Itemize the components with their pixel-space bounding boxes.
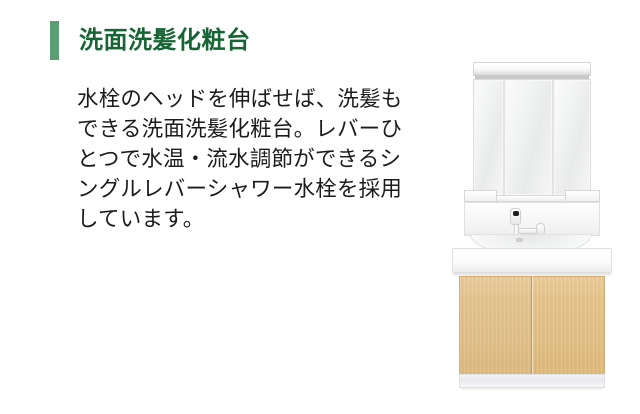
floor-shadow (461, 388, 603, 391)
mirror-cabinet (473, 62, 591, 214)
product-image (452, 62, 615, 398)
shower-head-icon (510, 208, 521, 225)
base-cabinet (459, 276, 605, 375)
drain-icon (516, 238, 523, 242)
mirror-panel-left (474, 80, 505, 195)
toe-kick (459, 374, 605, 388)
side-shelf-left (464, 190, 497, 202)
side-shelf-right (565, 190, 600, 202)
counter-top (452, 248, 612, 274)
mirror-panel-right (554, 80, 590, 195)
accent-bar (50, 21, 59, 60)
page-title: 洗面洗髪化粧台 (79, 26, 251, 56)
cabinet-door-left (459, 276, 532, 375)
cabinet-door-right (532, 276, 605, 375)
page-root: 洗面洗髪化粧台 水栓のヘッドを伸ばせば、洗髪もできる洗面洗髪化粧台。レバーひとつ… (0, 0, 640, 414)
light-hood-icon (473, 62, 591, 76)
text-column: 洗面洗髪化粧台 水栓のヘッドを伸ばせば、洗髪もできる洗面洗髪化粧台。レバーひとつ… (0, 0, 430, 414)
heading-row: 洗面洗髪化粧台 (50, 21, 251, 60)
mirror-panel-center (505, 80, 554, 195)
mirror-panels (473, 79, 591, 196)
description-text: 水栓のヘッドを伸ばせば、洗髪もできる洗面洗髪化粧台。レバーひとつで水温・流水調節… (77, 84, 407, 234)
